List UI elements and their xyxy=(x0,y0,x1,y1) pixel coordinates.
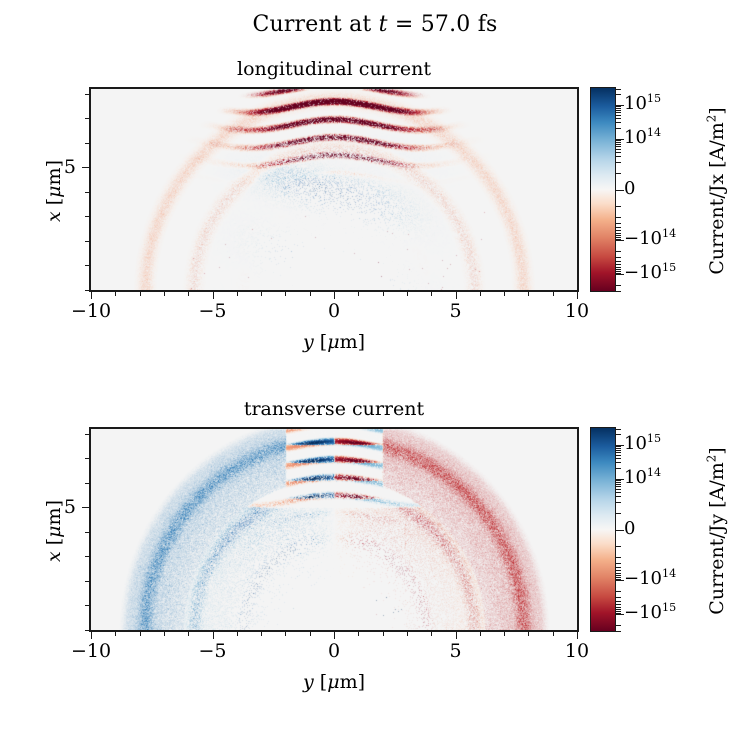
x-tick-label: −5 xyxy=(178,300,248,322)
x-tick-minor xyxy=(383,632,384,636)
x-tick-label: 0 xyxy=(299,640,369,662)
colorbar-tick-label: −1014 xyxy=(624,569,676,589)
colorbar-tick-minor xyxy=(616,570,621,571)
x-tick-label: 10 xyxy=(542,300,612,322)
colorbar-tick-minor xyxy=(616,468,621,469)
colorbar-tick-minor xyxy=(616,502,621,503)
colorbar-tick-minor xyxy=(616,591,621,592)
x-tick-minor xyxy=(164,632,165,636)
colorbar-tick-minor xyxy=(616,458,621,459)
x-tick-major xyxy=(456,632,457,639)
colorbar-tick-minor xyxy=(616,112,621,113)
y-axis-label-unit-top: [μm] xyxy=(43,160,65,205)
colorbar-tick-major xyxy=(616,274,624,275)
colorbar-tick-minor xyxy=(616,110,621,111)
x-axis-label-var-bot: y xyxy=(303,671,314,693)
colorbar-tick-minor xyxy=(616,94,621,95)
y-tick-minor xyxy=(85,216,89,217)
colorbar-tick-minor xyxy=(616,462,621,463)
cb-var-top: Jx xyxy=(706,174,728,192)
y-tick-minor xyxy=(85,581,89,582)
y-axis-ticks-transverse xyxy=(80,427,89,632)
x-tick-minor xyxy=(407,632,408,636)
colorbar-tick-minor xyxy=(616,604,621,605)
x-tick-minor xyxy=(528,632,529,636)
colorbar-tick-minor xyxy=(616,452,621,453)
colorbar-tick-minor xyxy=(616,607,621,608)
cb-prefix-bot: Current/ xyxy=(706,532,728,614)
colorbar-tick-minor xyxy=(616,625,621,626)
colorbar-tick-minor xyxy=(616,492,621,493)
colorbar-tick-label: −1015 xyxy=(624,603,676,623)
x-tick-minor xyxy=(237,292,238,296)
colorbar-tick-minor xyxy=(616,227,621,228)
y-axis-label-longitudinal: x [μm] xyxy=(43,131,65,251)
x-tick-label: 5 xyxy=(421,640,491,662)
colorbar-tick-minor xyxy=(616,285,621,286)
colorbar-tick-minor xyxy=(616,609,621,610)
colorbar-tick-label: 1014 xyxy=(624,128,661,148)
x-tick-minor xyxy=(164,292,165,296)
x-tick-label: 0 xyxy=(299,300,369,322)
y-tick-major xyxy=(82,167,89,168)
colorbar-tick-major xyxy=(616,580,624,581)
x-tick-minor xyxy=(480,632,481,636)
x-tick-label: 5 xyxy=(421,300,491,322)
x-tick-minor xyxy=(261,292,262,296)
colorbar-tick-label: 1015 xyxy=(624,94,661,114)
y-axis-label-var-bot: x xyxy=(43,551,65,562)
x-tick-minor xyxy=(115,292,116,296)
colorbar-tick-minor xyxy=(616,217,621,218)
colorbar-tick-minor xyxy=(616,108,621,109)
x-tick-major xyxy=(91,292,92,299)
x-tick-minor xyxy=(480,292,481,296)
scatter-canvas-longitudinal xyxy=(91,89,577,290)
y-axis-label-var-top: x xyxy=(43,211,65,222)
x-tick-minor xyxy=(140,292,141,296)
colorbar-tick-minor xyxy=(616,251,621,252)
y-axis-label-transverse: x [μm] xyxy=(43,471,65,591)
colorbar-tick-minor xyxy=(616,446,621,447)
colorbar-tick-minor xyxy=(616,434,621,435)
x-tick-minor xyxy=(188,292,189,296)
colorbar-tick-minor xyxy=(616,206,621,207)
colorbar-tick-label: 0 xyxy=(624,519,635,539)
colorbar-tick-minor xyxy=(616,257,621,258)
y-tick-minor xyxy=(85,143,89,144)
colorbar-tick-minor xyxy=(616,144,621,145)
colorbar-tick-minor xyxy=(616,223,621,224)
y-tick-minor xyxy=(85,265,89,266)
x-tick-minor xyxy=(407,292,408,296)
colorbar-tick-label: 0 xyxy=(624,179,635,199)
y-tick-minor xyxy=(85,241,89,242)
colorbar-tick-minor xyxy=(616,269,621,270)
y-tick-minor xyxy=(85,94,89,95)
colorbar-tick-minor xyxy=(616,261,621,262)
colorbar-tick-minor xyxy=(616,448,621,449)
colorbar-tick-minor xyxy=(616,149,621,150)
y-tick-minor xyxy=(85,290,89,291)
colorbar-tick-minor xyxy=(616,631,621,632)
colorbar-tick-major xyxy=(616,105,624,106)
cb-unit-bot: [A/m2] xyxy=(706,447,728,507)
x-tick-minor xyxy=(553,632,554,636)
y-axis-label-unit-bot: [μm] xyxy=(43,500,65,545)
colorbar-tick-minor xyxy=(616,173,621,174)
colorbar-tick-minor xyxy=(616,546,621,547)
cb-unit-top: [A/m2] xyxy=(706,107,728,167)
colorbar-tick-minor xyxy=(616,486,621,487)
colorbar-tick-minor xyxy=(616,496,621,497)
panel-title-longitudinal: longitudinal current xyxy=(89,57,579,81)
x-tick-major xyxy=(334,632,335,639)
y-tick-minor xyxy=(85,118,89,119)
y-tick-minor xyxy=(85,605,89,606)
colorbar-tick-minor xyxy=(616,122,621,123)
x-tick-minor xyxy=(285,292,286,296)
colorbar-tick-minor xyxy=(616,142,621,143)
x-axis-ticklabels-transverse: −10−50510 xyxy=(89,640,579,666)
x-tick-major xyxy=(456,292,457,299)
colorbar-tick-minor xyxy=(616,115,621,116)
colorbar-tick-major xyxy=(616,530,624,531)
colorbar-tick-minor xyxy=(616,162,621,163)
colorbar-tick-minor xyxy=(616,455,621,456)
x-tick-major xyxy=(577,632,578,639)
colorbar-transverse xyxy=(590,427,616,632)
colorbar-tick-minor xyxy=(616,573,621,574)
x-tick-label: 10 xyxy=(542,640,612,662)
x-tick-minor xyxy=(310,292,311,296)
x-tick-minor xyxy=(261,632,262,636)
suptitle-time-value: = 57.0 fs xyxy=(388,12,498,37)
x-tick-label: −10 xyxy=(56,300,126,322)
x-tick-major xyxy=(213,632,214,639)
x-tick-label: −10 xyxy=(56,640,126,662)
y-tick-minor xyxy=(85,532,89,533)
colorbar-longitudinal xyxy=(590,87,616,292)
x-axis-ticklabels-longitudinal: −10−50510 xyxy=(89,300,579,326)
x-tick-minor xyxy=(431,632,432,636)
figure-canvas: Current at t = 57.0 fs longitudinal curr… xyxy=(0,0,750,750)
colorbar-tick-minor xyxy=(616,557,621,558)
colorbar-tick-major xyxy=(616,139,624,140)
suptitle-prefix: Current at xyxy=(252,12,378,37)
x-tick-major xyxy=(577,292,578,299)
colorbar-tick-major xyxy=(616,190,624,191)
plot-area-transverse xyxy=(89,427,579,632)
colorbar-tick-minor xyxy=(616,484,621,485)
y-axis-ticks-longitudinal xyxy=(80,87,89,292)
colorbar-tick-minor xyxy=(616,597,621,598)
suptitle-time-var: t xyxy=(379,12,388,37)
colorbar-tick-minor xyxy=(616,140,621,141)
colorbar-tick-minor xyxy=(616,128,621,129)
colorbar-tick-minor xyxy=(616,233,621,234)
colorbar-tick-minor xyxy=(616,235,621,236)
colorbar-label-longitudinal: Current/Jx [A/m2] xyxy=(706,91,728,291)
colorbar-tick-major xyxy=(616,614,624,615)
x-tick-minor xyxy=(431,292,432,296)
y-tick-minor xyxy=(85,483,89,484)
x-axis-label-longitudinal: y [μm] xyxy=(89,330,579,354)
colorbar-tick-label: −1014 xyxy=(624,229,676,249)
colorbar-tick-minor xyxy=(616,480,621,481)
x-tick-major xyxy=(213,292,214,299)
x-axis-label-unit-bot: [μm] xyxy=(320,671,365,693)
colorbar-tick-minor xyxy=(616,567,621,568)
colorbar-tick-minor xyxy=(616,89,621,90)
colorbar-tick-minor xyxy=(616,230,621,231)
cb-prefix-top: Current/ xyxy=(706,192,728,274)
x-tick-minor xyxy=(528,292,529,296)
x-tick-minor xyxy=(115,632,116,636)
colorbar-tick-minor xyxy=(616,601,621,602)
colorbar-tick-minor xyxy=(616,156,621,157)
plot-area-longitudinal xyxy=(89,87,579,292)
figure-suptitle: Current at t = 57.0 fs xyxy=(0,10,750,40)
y-tick-major xyxy=(82,507,89,508)
y-tick-minor xyxy=(85,434,89,435)
colorbar-tick-minor xyxy=(616,146,621,147)
x-axis-label-transverse: y [μm] xyxy=(89,670,579,694)
scatter-canvas-transverse xyxy=(91,429,577,630)
x-tick-minor xyxy=(310,632,311,636)
x-tick-minor xyxy=(504,292,505,296)
colorbar-tick-label: −1015 xyxy=(624,263,676,283)
colorbar-tick-minor xyxy=(616,563,621,564)
panel-title-transverse: transverse current xyxy=(89,397,579,421)
x-axis-label-unit-top: [μm] xyxy=(320,331,365,353)
colorbar-tick-minor xyxy=(616,513,621,514)
y-tick-minor xyxy=(85,556,89,557)
colorbar-tick-minor xyxy=(616,482,621,483)
x-tick-minor xyxy=(553,292,554,296)
colorbar-tick-minor xyxy=(616,489,621,490)
x-tick-minor xyxy=(504,632,505,636)
x-tick-major xyxy=(91,632,92,639)
colorbar-tick-minor xyxy=(616,450,621,451)
y-tick-minor xyxy=(85,630,89,631)
colorbar-tick-minor xyxy=(616,152,621,153)
x-tick-minor xyxy=(358,632,359,636)
colorbar-tick-label: 1015 xyxy=(624,434,661,454)
colorbar-tick-minor xyxy=(616,118,621,119)
colorbar-tick-minor xyxy=(616,106,621,107)
x-axis-label-var-top: y xyxy=(303,331,314,353)
colorbar-tick-minor xyxy=(616,429,621,430)
colorbar-tick-label: 1014 xyxy=(624,468,661,488)
x-tick-label: −5 xyxy=(178,640,248,662)
x-tick-minor xyxy=(358,292,359,296)
cb-var-bot: Jy xyxy=(706,514,728,532)
colorbar-tick-major xyxy=(616,240,624,241)
colorbar-tick-major xyxy=(616,479,624,480)
y-tick-minor xyxy=(85,192,89,193)
x-tick-major xyxy=(334,292,335,299)
x-tick-minor xyxy=(237,632,238,636)
x-tick-minor xyxy=(285,632,286,636)
colorbar-tick-minor xyxy=(616,291,621,292)
colorbar-tick-minor xyxy=(616,267,621,268)
y-tick-minor xyxy=(85,458,89,459)
x-tick-minor xyxy=(140,632,141,636)
colorbar-tick-minor xyxy=(616,264,621,265)
x-tick-minor xyxy=(188,632,189,636)
x-tick-minor xyxy=(383,292,384,296)
colorbar-label-transverse: Current/Jy [A/m2] xyxy=(706,431,728,631)
colorbar-tick-minor xyxy=(616,575,621,576)
colorbar-tick-major xyxy=(616,445,624,446)
